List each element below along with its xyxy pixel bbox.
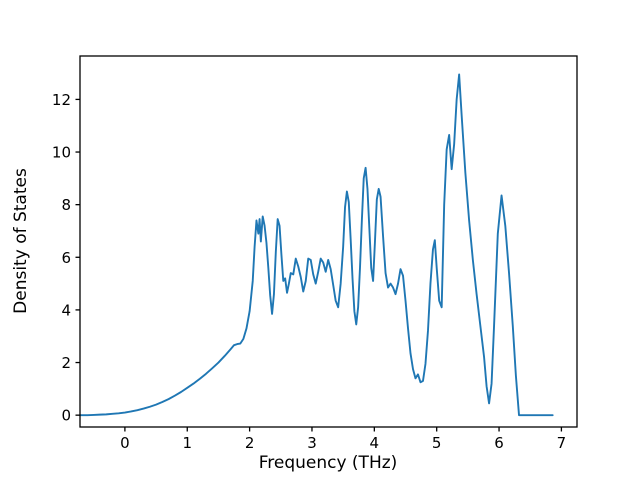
y-axis-ticks: 024681012: [52, 91, 80, 425]
x-tick-label: 4: [370, 434, 380, 452]
x-tick-label: 7: [557, 434, 567, 452]
y-axis-label: Density of States: [11, 168, 31, 314]
x-axis-label: Frequency (THz): [259, 453, 398, 473]
y-tick-label: 0: [61, 407, 71, 425]
y-tick-label: 2: [61, 354, 71, 372]
x-tick-label: 3: [307, 434, 317, 452]
density-of-states-plot: 01234567 024681012 Frequency (THz) Densi…: [0, 0, 640, 480]
x-tick-label: 1: [182, 434, 192, 452]
y-tick-label: 4: [61, 301, 71, 319]
y-tick-label: 8: [61, 196, 71, 214]
figure-canvas: 01234567 024681012 Frequency (THz) Densi…: [0, 0, 640, 480]
y-tick-label: 12: [52, 91, 71, 109]
y-tick-label: 6: [61, 249, 71, 267]
y-tick-label: 10: [52, 144, 71, 162]
plot-area-background: [80, 56, 577, 427]
x-axis-ticks: 01234567: [120, 427, 566, 452]
x-tick-label: 0: [120, 434, 130, 452]
x-tick-label: 6: [494, 434, 504, 452]
x-tick-label: 2: [245, 434, 255, 452]
x-tick-label: 5: [432, 434, 442, 452]
